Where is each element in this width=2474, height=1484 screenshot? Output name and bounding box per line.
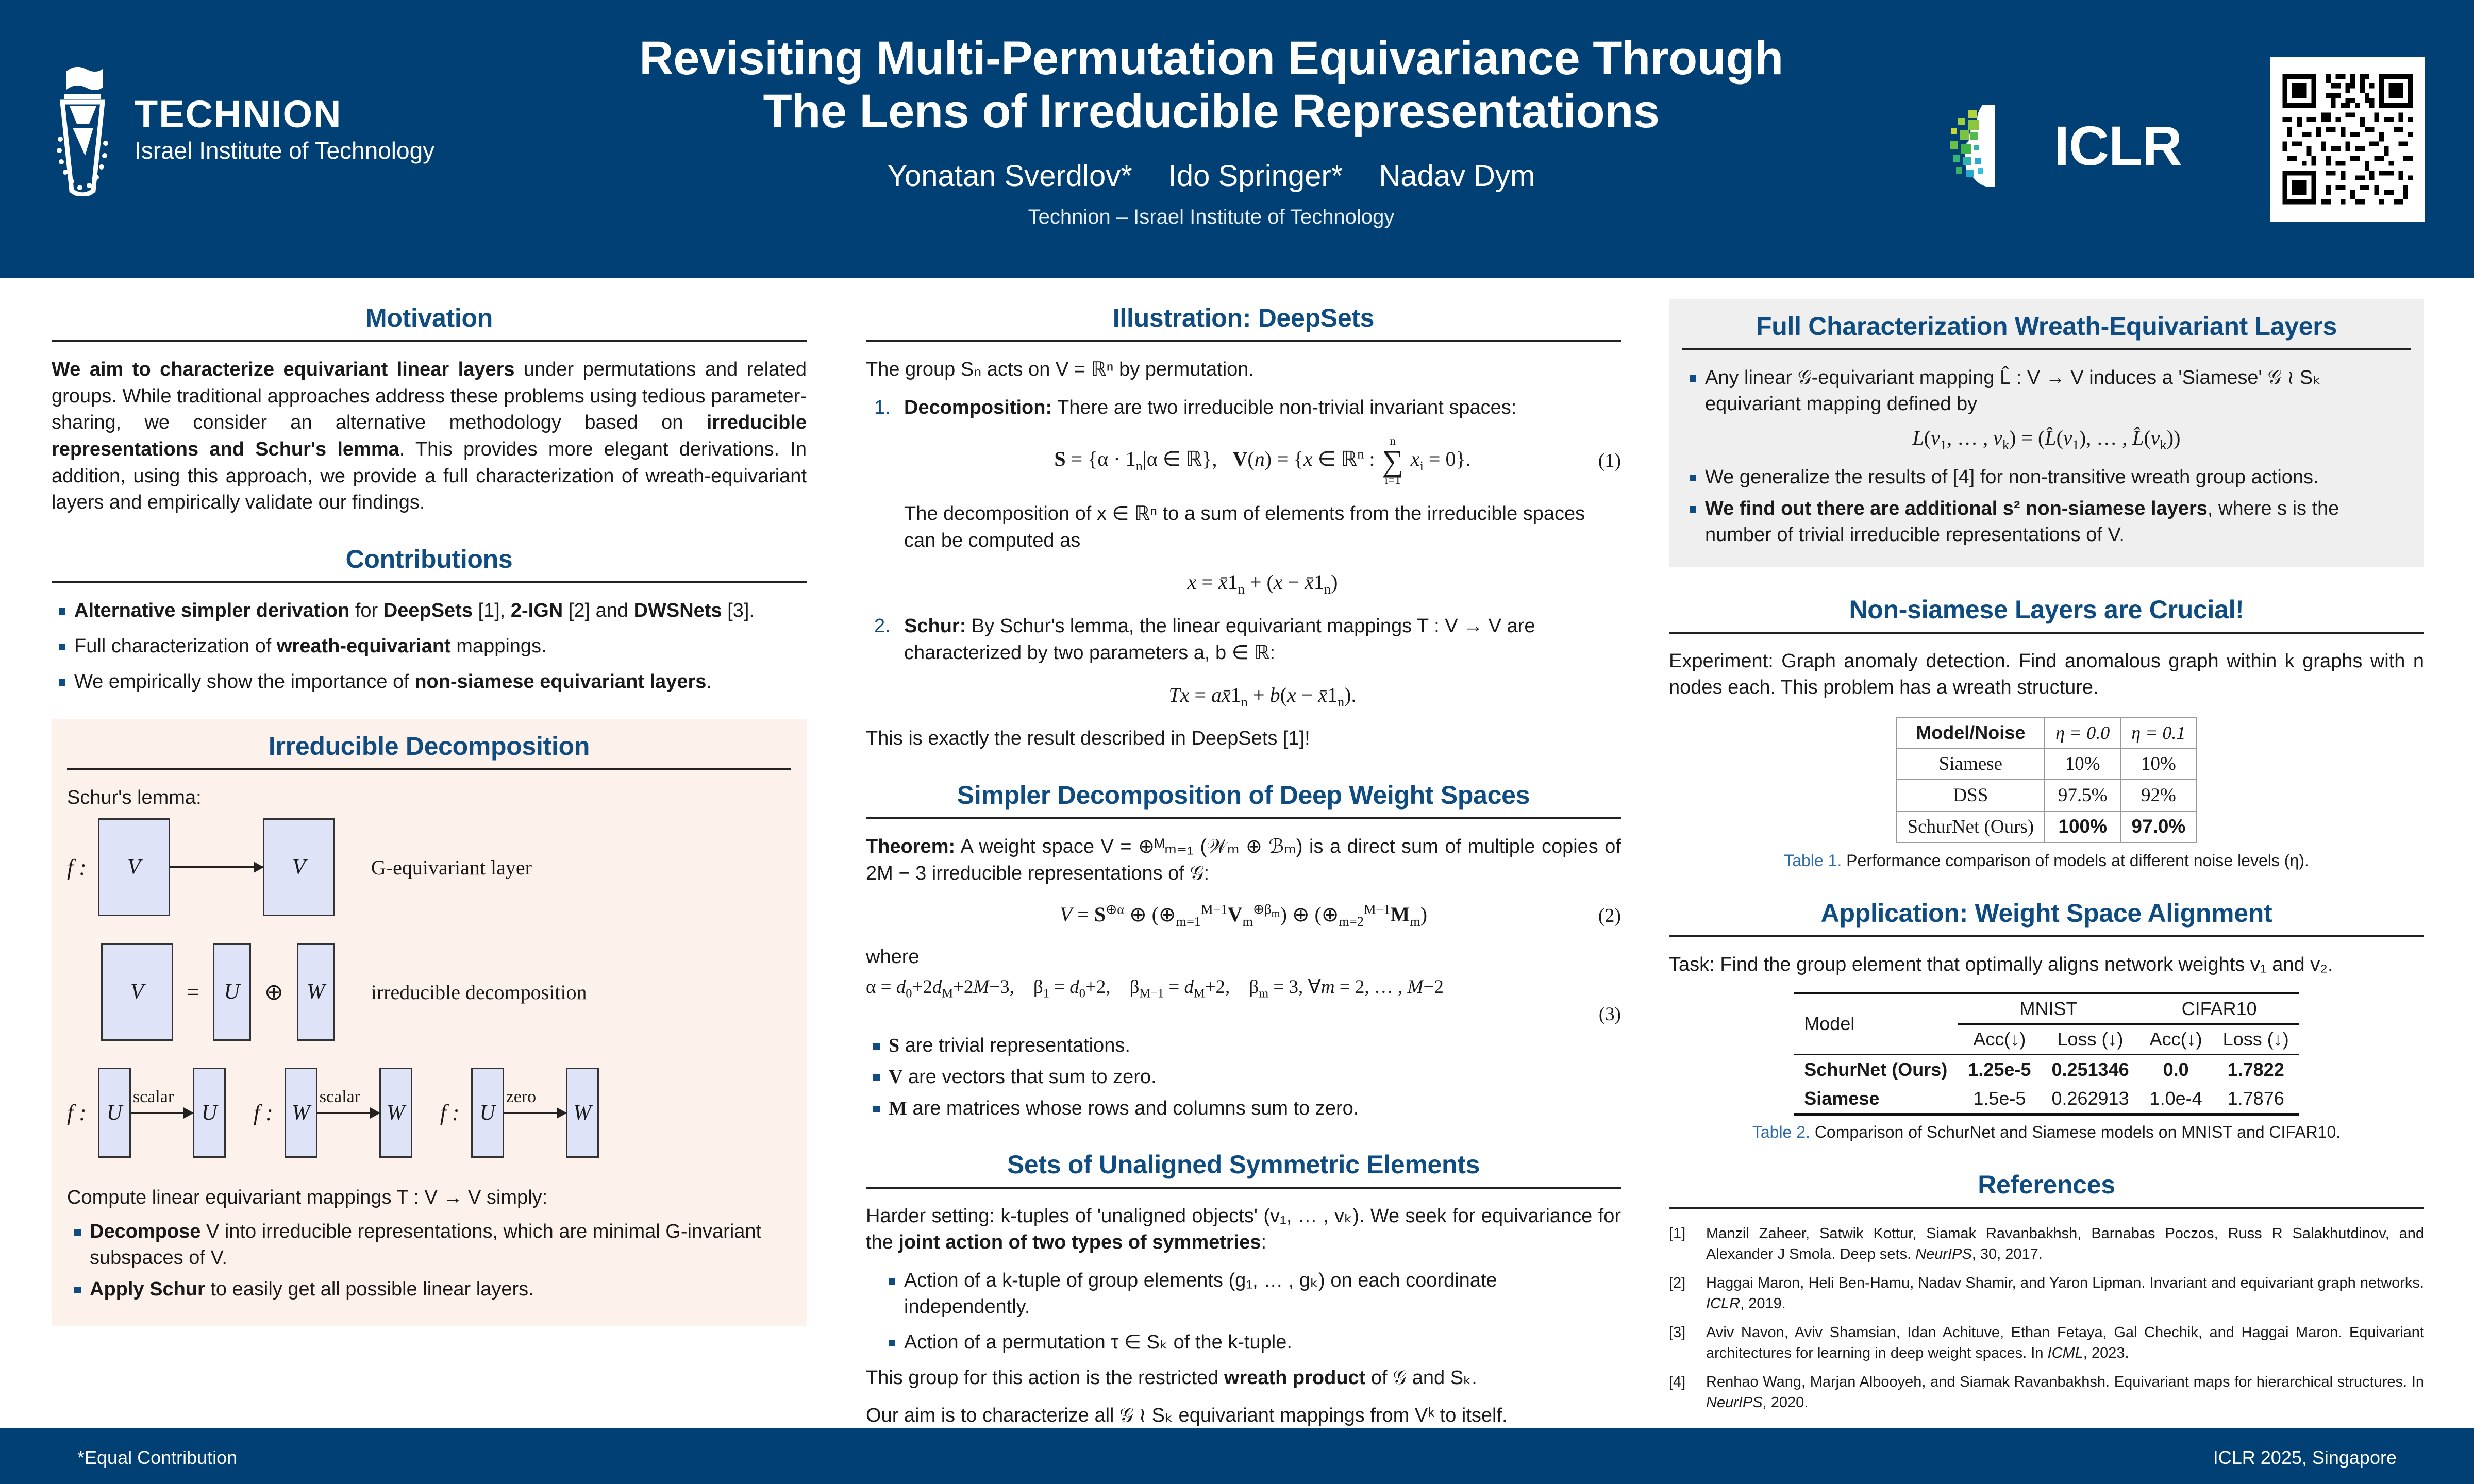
table-2-alignment-results: Model MNIST CIFAR10 Acc(↓) Loss (↓) Acc(…	[1794, 992, 2299, 1116]
list-item: M are matrices whose rows and columns su…	[866, 1095, 1621, 1122]
where-label: where	[866, 944, 1621, 971]
author-2: Ido Springer*	[1168, 159, 1343, 193]
contributions-list: Alternative simpler derivation for DeepS…	[52, 598, 807, 695]
table-header-row: Model/Noise η = 0.0 η = 0.1	[1897, 717, 2197, 748]
section-contributions: Contributions Alternative simpler deriva…	[52, 540, 807, 695]
table-bottom-rule	[1794, 1114, 2299, 1116]
col-header-mnist-acc: Acc(↓)	[1958, 1024, 2041, 1054]
unaligned-para-2: Our aim is to characterize all 𝒢 ≀ Sₖ eq…	[866, 1403, 1621, 1429]
diagram-row-decomposition: V = U ⊕ W irreducible decomposition	[67, 943, 791, 1041]
table-1-noise-performance: Model/Noise η = 0.0 η = 0.1 Siamese 10% …	[1896, 717, 2197, 843]
section-title-unaligned: Sets of Unaligned Symmetric Elements	[866, 1145, 1621, 1187]
section-title-non-siamese: Non-siamese Layers are Crucial!	[1669, 591, 2424, 632]
table-2-caption: Table 2. Comparison of SchurNet and Siam…	[1669, 1123, 2424, 1142]
space-box-U-source: U	[98, 1068, 131, 1158]
section-irreducible-decomposition: Irreducible Decomposition Schur's lemma:…	[52, 719, 807, 1326]
list-item-schur: Schur: By Schur's lemma, the linear equi…	[866, 613, 1621, 711]
section-references: References [1]Manzil Zaheer, Satwik Kott…	[1669, 1166, 2424, 1413]
space-box-U-target: U	[193, 1068, 226, 1158]
col-header-cifar-acc: Acc(↓)	[2139, 1024, 2213, 1054]
schur-lemma-label: Schur's lemma:	[67, 785, 791, 812]
reference-item: [1]Manzil Zaheer, Satwik Kottur, Siamak …	[1669, 1223, 2424, 1264]
cell-value: 0.262913	[2041, 1084, 2139, 1115]
title-block: Revisiting Multi-Permutation Equivarianc…	[541, 32, 1881, 229]
cell-value: 97.0%	[2120, 811, 2196, 842]
equation-number-3: (3)	[1599, 1004, 1621, 1025]
list-item: Action of a k-tuple of group elements (g…	[881, 1268, 1621, 1320]
map-label-f: f :	[67, 1100, 87, 1126]
cell-value: 1.25e-5	[1958, 1054, 2041, 1084]
divider	[67, 768, 791, 770]
full-characterization-list-2: We generalize the results of [4] for non…	[1682, 464, 2411, 548]
divider	[866, 1187, 1621, 1189]
technion-tagline: Israel Institute of Technology	[135, 139, 434, 162]
cell-value: 1.7822	[2213, 1054, 2299, 1084]
table-row: DSS 97.5% 92%	[1897, 780, 2197, 811]
equals-sign: =	[187, 979, 199, 1005]
theorem-paragraph: Theorem: A weight space V = ⊕ᴹₘ₌₁ (𝒲ₘ ⊕ …	[866, 834, 1621, 887]
oplus-icon: ⊕	[264, 979, 283, 1005]
section-title-irreducible: Irreducible Decomposition	[67, 727, 791, 768]
divider	[866, 340, 1621, 342]
equation-1: S = {α · 1n|α ∈ ℝ}, V(n) = {x ∈ ℝn : n∑i…	[904, 435, 1621, 486]
arrow-icon	[317, 1112, 379, 1114]
compute-line: Compute linear equivariant mappings T : …	[67, 1185, 791, 1211]
table-row: Siamese 1.5e-5 0.262913 1.0e-4 1.7876	[1794, 1084, 2299, 1115]
group-header-cifar10: CIFAR10	[2139, 993, 2299, 1024]
list-item: Alternative simpler derivation for DeepS…	[52, 598, 807, 624]
group-header-mnist: MNIST	[1958, 993, 2139, 1024]
iclr-logo: ICLR	[1946, 100, 2182, 191]
equation-number-2: (2)	[1598, 904, 1621, 927]
table-row: SchurNet (Ours) 1.25e-5 0.251346 0.0 1.7…	[1794, 1054, 2299, 1084]
column-left: Motivation We aim to characterize equiva…	[52, 299, 807, 1350]
divider	[1669, 1207, 2424, 1209]
diagram-caption-irreducible-decomposition: irreducible decomposition	[371, 980, 587, 1004]
alignment-task: Task: Find the group element that optima…	[1669, 952, 2424, 979]
equation-2: V = S⊕α ⊕ (⊕m=1M−1Vm⊕βm) ⊕ (⊕m=2M−1Mm) (…	[866, 901, 1621, 929]
poster-title-line1: Revisiting Multi-Permutation Equivarianc…	[541, 32, 1881, 85]
arrow-icon	[504, 1112, 566, 1114]
author-1: Yonatan Sverdlov*	[888, 159, 1132, 193]
section-title-alignment: Application: Weight Space Alignment	[1669, 894, 2424, 935]
equation-number-1: (1)	[1598, 448, 1621, 475]
col-header-mnist-loss: Loss (↓)	[2041, 1024, 2139, 1054]
deepsets-closing: This is exactly the result described in …	[866, 726, 1621, 752]
section-title-full-characterization: Full Characterization Wreath-Equivariant…	[1682, 307, 2411, 348]
map-label-f: f :	[254, 1100, 273, 1126]
list-item: We empirically show the importance of no…	[52, 669, 807, 695]
author-list: Yonatan Sverdlov* Ido Springer* Nadav Dy…	[541, 159, 1881, 193]
equation-siamese-L: L(v1, … , vk) = (L̂(v1), … , L̂(vk))	[1682, 426, 2411, 453]
divider	[1669, 935, 2424, 937]
cell-value: 0.251346	[2041, 1054, 2139, 1084]
section-title-motivation: Motivation	[52, 299, 807, 340]
table-1-caption: Table 1. Performance comparison of model…	[1669, 851, 2424, 870]
poster-title-line2: The Lens of Irreducible Representations	[541, 85, 1881, 138]
divider	[52, 581, 807, 583]
list-item: Apply Schur to easily get all possible l…	[67, 1276, 791, 1303]
reference-item: [3]Aviv Navon, Aviv Shamsian, Idan Achit…	[1669, 1322, 2424, 1363]
arrow-icon	[131, 1112, 193, 1114]
col-header-cifar-loss: Loss (↓)	[2213, 1024, 2299, 1054]
full-characterization-list: Any linear 𝒢-equivariant mapping L̂ : V …	[1682, 365, 2411, 417]
arrow-label-scalar: scalar	[133, 1087, 174, 1107]
section-title-references: References	[1669, 1166, 2424, 1207]
technion-logo: TECHNION Israel Institute of Technology	[49, 62, 434, 196]
col-header-model: Model	[1794, 993, 1958, 1054]
cell-value: 100%	[2045, 811, 2120, 842]
space-box-V-target: V	[263, 818, 335, 916]
section-title-weight-spaces: Simpler Decomposition of Deep Weight Spa…	[866, 776, 1621, 817]
cell-model: SchurNet (Ours)	[1897, 811, 2045, 842]
cell-value: 97.5%	[2045, 780, 2120, 811]
arrow-icon	[170, 866, 263, 868]
unaligned-symmetries-list: Action of a k-tuple of group elements (g…	[881, 1268, 1621, 1356]
reference-item: [4]Renhao Wang, Marjan Albooyeh, and Sia…	[1669, 1372, 2424, 1413]
poster-header: TECHNION Israel Institute of Technology …	[0, 0, 2474, 278]
unaligned-para-1: This group for this action is the restri…	[866, 1365, 1621, 1392]
space-box-U-source: U	[471, 1068, 504, 1158]
motivation-paragraph: We aim to characterize equivariant linea…	[52, 357, 807, 516]
arrow-label-zero: zero	[506, 1087, 537, 1107]
diagram-row-equivariant-layer: f : V V G-equivariant layer	[67, 818, 791, 916]
poster-footer: *Equal Contribution ICLR 2025, Singapore	[0, 1428, 2474, 1484]
schur-map-UU: f : U scalar U	[67, 1068, 226, 1158]
list-item: V are vectors that sum to zero.	[866, 1064, 1621, 1090]
section-illustration-deepsets: Illustration: DeepSets The group Sₙ acts…	[866, 299, 1621, 752]
section-non-siamese-crucial: Non-siamese Layers are Crucial! Experime…	[1669, 591, 2424, 870]
footer-venue: ICLR 2025, Singapore	[2213, 1447, 2397, 1469]
section-weight-spaces: Simpler Decomposition of Deep Weight Spa…	[866, 776, 1621, 1121]
cell-value: 1.5e-5	[1958, 1084, 2041, 1115]
cell-value: 1.0e-4	[2139, 1084, 2213, 1115]
cell-value: 10%	[2045, 748, 2120, 780]
footer-equal-contribution: *Equal Contribution	[77, 1447, 237, 1469]
col-header-eta-0: η = 0.0	[2045, 717, 2120, 748]
non-siamese-intro: Experiment: Graph anomaly detection. Fin…	[1669, 648, 2424, 701]
table-row: SchurNet (Ours) 100% 97.0%	[1897, 811, 2197, 842]
author-3: Nadav Dym	[1379, 159, 1535, 193]
equation-3: α = d0+2dM+2M−3, β1 = d0+2, βM−1 = dM+2,…	[866, 975, 1621, 1025]
map-label-f: f :	[67, 854, 87, 881]
space-box-V-source: V	[98, 818, 170, 916]
section-title-deepsets: Illustration: DeepSets	[866, 299, 1621, 340]
col-header-eta-1: η = 0.1	[2120, 717, 2196, 748]
diagram-row-schur-maps: f : U scalar U f : W scalar W	[67, 1068, 791, 1158]
schur-diagram: f : V V G-equivariant layer V = U ⊕ W ir…	[67, 818, 791, 1158]
deepsets-after-eq1: The decomposition of x ∈ ℝⁿ to a sum of …	[904, 501, 1621, 554]
weight-space-legend: S are trivial representations. V are vec…	[866, 1033, 1621, 1122]
column-middle: Illustration: DeepSets The group Sₙ acts…	[866, 299, 1621, 1453]
section-weight-space-alignment: Application: Weight Space Alignment Task…	[1669, 894, 2424, 1142]
list-item: S are trivial representations.	[866, 1033, 1621, 1059]
affiliation: Technion – Israel Institute of Technolog…	[541, 206, 1881, 229]
divider	[866, 817, 1621, 819]
col-header-model-noise: Model/Noise	[1897, 717, 2045, 748]
space-box-W-source: W	[285, 1068, 317, 1158]
map-label-f: f :	[440, 1100, 460, 1126]
equation-decomposition-x: x = x̄1n + (x − x̄1n)	[904, 568, 1621, 599]
cell-model: DSS	[1897, 780, 2045, 811]
cell-value: 10%	[2120, 748, 2196, 780]
equation-schur-Tx: Tx = ax̄1n + b(x − x̄1n).	[904, 681, 1621, 712]
list-item-decomposition: Decomposition: There are two irreducible…	[866, 395, 1621, 599]
section-motivation: Motivation We aim to characterize equiva…	[52, 299, 807, 516]
section-title-contributions: Contributions	[52, 540, 807, 581]
cell-model: SchurNet (Ours)	[1794, 1054, 1958, 1084]
section-unaligned-elements: Sets of Unaligned Symmetric Elements Har…	[866, 1145, 1621, 1429]
arrow-label-scalar: scalar	[320, 1087, 360, 1107]
cell-value: 1.7876	[2213, 1084, 2299, 1115]
divider	[1682, 348, 2411, 350]
divider	[52, 340, 807, 342]
space-box-W-target: W	[379, 1068, 412, 1158]
schur-map-UW: f : U zero W	[440, 1068, 599, 1158]
section-full-characterization: Full Characterization Wreath-Equivariant…	[1669, 299, 2424, 567]
qr-code[interactable]	[2270, 57, 2425, 222]
table-header-row: Model MNIST CIFAR10	[1794, 993, 2299, 1024]
references-list: [1]Manzil Zaheer, Satwik Kottur, Siamak …	[1669, 1223, 2424, 1413]
list-item: We generalize the results of [4] for non…	[1682, 464, 2411, 491]
unaligned-intro: Harder setting: k-tuples of 'unaligned o…	[866, 1203, 1621, 1256]
iclr-wordmark: ICLR	[2054, 113, 2182, 178]
cell-model: Siamese	[1794, 1084, 1958, 1115]
column-right: Full Characterization Wreath-Equivariant…	[1669, 299, 2424, 1437]
deepsets-intro: The group Sₙ acts on V = ℝⁿ by permutati…	[866, 357, 1621, 383]
diagram-caption-equivariant-layer: G-equivariant layer	[371, 855, 532, 880]
cell-value: 0.0	[2139, 1054, 2213, 1084]
space-box-W-target: W	[566, 1068, 599, 1158]
list-item: Action of a permutation τ ∈ Sₖ of the k-…	[881, 1329, 1621, 1356]
technion-emblem-icon	[49, 62, 116, 196]
schur-map-WW: f : W scalar W	[254, 1068, 412, 1158]
space-box-W: W	[297, 943, 335, 1041]
list-item: Full characterization of wreath-equivari…	[52, 633, 807, 660]
space-box-U: U	[213, 943, 251, 1041]
cell-model: Siamese	[1897, 748, 2045, 780]
technion-wordmark: TECHNION	[135, 95, 434, 133]
iclr-head-icon	[1946, 100, 2038, 191]
list-item: Decompose V into irreducible representat…	[67, 1219, 791, 1271]
deepsets-steps: Decomposition: There are two irreducible…	[866, 395, 1621, 712]
table-row: Siamese 10% 10%	[1897, 748, 2197, 780]
list-item: We find out there are additional s² non-…	[1682, 496, 2411, 548]
space-box-V: V	[101, 943, 173, 1041]
cell-value: 92%	[2120, 780, 2196, 811]
reference-item: [2]Haggai Maron, Heli Ben-Hamu, Nadav Sh…	[1669, 1273, 2424, 1314]
list-item: Any linear 𝒢-equivariant mapping L̂ : V …	[1682, 365, 2411, 417]
divider	[1669, 632, 2424, 634]
irreducible-steps-list: Decompose V into irreducible representat…	[67, 1219, 791, 1303]
